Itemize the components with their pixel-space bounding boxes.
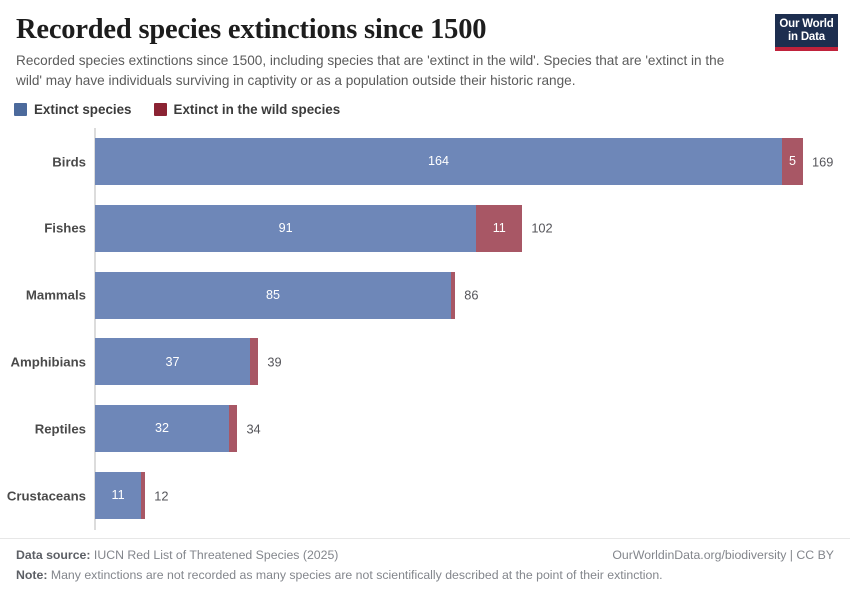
bar-segment-extinct-in-wild[interactable]: 5: [782, 138, 803, 185]
bar-segment-value: 32: [155, 422, 169, 435]
our-world-in-data-logo[interactable]: Our World in Data: [775, 14, 838, 51]
stacked-bar[interactable]: 372: [95, 338, 258, 385]
category-label: Mammals: [0, 288, 86, 303]
bar-total-label: 102: [531, 221, 552, 236]
footer-row-source: Data source: IUCN Red List of Threatened…: [0, 548, 850, 568]
bar-total-label: 12: [154, 488, 168, 503]
bar-segment-extinct[interactable]: 91: [95, 205, 476, 252]
category-label: Amphibians: [0, 354, 86, 369]
y-axis-line: [94, 128, 96, 530]
chart-legend: Extinct speciesExtinct in the wild speci…: [14, 102, 340, 117]
bar-segment-extinct-in-wild[interactable]: 2: [229, 405, 237, 452]
chart-footer: Data source: IUCN Red List of Threatened…: [0, 538, 850, 588]
note-label: Note:: [16, 568, 47, 582]
data-source-value: IUCN Red List of Threatened Species (202…: [94, 548, 338, 562]
bar-segment-extinct[interactable]: 164: [95, 138, 782, 185]
page-title: Recorded species extinctions since 1500: [16, 14, 486, 46]
bar-row[interactable]: Mammals85186: [0, 272, 850, 319]
bar-row[interactable]: Amphibians37239: [0, 338, 850, 385]
legend-label: Extinct species: [34, 102, 132, 117]
data-source-label: Data source:: [16, 548, 91, 562]
bar-total-label: 169: [812, 154, 833, 169]
bar-segment-value: 91: [279, 222, 293, 235]
logo-line-2: in Data: [788, 31, 825, 43]
bar-segment-value: 37: [165, 356, 179, 369]
legend-item-0[interactable]: Extinct species: [14, 102, 132, 117]
bar-total-label: 86: [464, 288, 478, 303]
bar-segment-value: 11: [112, 489, 125, 502]
stacked-bar[interactable]: 1645: [95, 138, 803, 185]
bar-segment-value: 5: [789, 155, 796, 168]
bar-segment-extinct-in-wild[interactable]: 1: [141, 472, 145, 519]
data-source: Data source: IUCN Red List of Threatened…: [16, 548, 338, 562]
stacked-bar[interactable]: 322: [95, 405, 237, 452]
category-label: Crustaceans: [0, 488, 86, 503]
bar-segment-value: 11: [493, 222, 506, 235]
legend-label: Extinct in the wild species: [174, 102, 341, 117]
bar-segment-extinct[interactable]: 32: [95, 405, 229, 452]
bar-segment-extinct[interactable]: 85: [95, 272, 451, 319]
category-label: Reptiles: [0, 421, 86, 436]
logo-line-1: Our World: [779, 18, 833, 30]
legend-swatch-icon: [154, 103, 167, 116]
bar-row[interactable]: Fishes9111102: [0, 205, 850, 252]
legend-item-1[interactable]: Extinct in the wild species: [154, 102, 341, 117]
chart-plot-area: Birds1645169Fishes9111102Mammals85186Amp…: [0, 128, 850, 532]
bar-total-label: 34: [246, 421, 260, 436]
chart-subtitle: Recorded species extinctions since 1500,…: [16, 51, 746, 90]
bar-segment-extinct-in-wild[interactable]: 2: [250, 338, 258, 385]
bar-row[interactable]: Crustaceans11112: [0, 472, 850, 519]
bar-segment-extinct[interactable]: 11: [95, 472, 141, 519]
bar-total-label: 39: [267, 354, 281, 369]
bar-segment-value: 85: [266, 289, 280, 302]
bar-segment-extinct-in-wild[interactable]: 1: [451, 272, 455, 319]
bar-segment-value: 164: [428, 155, 449, 168]
category-label: Birds: [0, 154, 86, 169]
category-label: Fishes: [0, 221, 86, 236]
chart-note: Note: Many extinctions are not recorded …: [16, 568, 663, 582]
stacked-bar[interactable]: 111: [95, 472, 145, 519]
legend-swatch-icon: [14, 103, 27, 116]
bar-row[interactable]: Birds1645169: [0, 138, 850, 185]
bar-row[interactable]: Reptiles32234: [0, 405, 850, 452]
bar-segment-extinct[interactable]: 37: [95, 338, 250, 385]
bar-segment-extinct-in-wild[interactable]: 11: [476, 205, 522, 252]
stacked-bar[interactable]: 9111: [95, 205, 522, 252]
attribution-link[interactable]: OurWorldinData.org/biodiversity | CC BY: [612, 548, 834, 562]
note-value: Many extinctions are not recorded as man…: [51, 568, 663, 582]
stacked-bar[interactable]: 851: [95, 272, 455, 319]
footer-row-note: Note: Many extinctions are not recorded …: [0, 568, 850, 588]
